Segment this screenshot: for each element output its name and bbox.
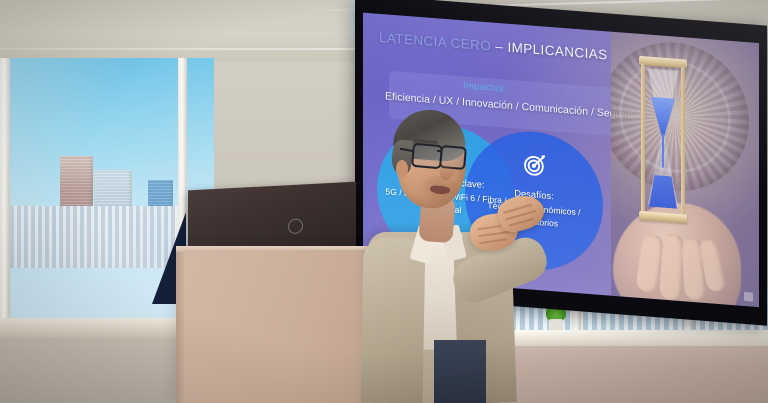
presentation-photo-scene: LATENCIA CERO – IMPLICANCIAS Impactos: E… (0, 0, 768, 403)
finger-crease (479, 238, 507, 243)
speaker-jacket-left (361, 237, 426, 403)
glasses-lens-left (411, 143, 443, 170)
finger-crease (509, 218, 534, 227)
speaker-ear (396, 160, 408, 178)
finger-crease (478, 231, 510, 237)
glasses-bridge (437, 150, 442, 153)
speaker (0, 0, 768, 403)
speaker-trousers (434, 340, 486, 403)
speaker-hand-upper (494, 190, 548, 235)
